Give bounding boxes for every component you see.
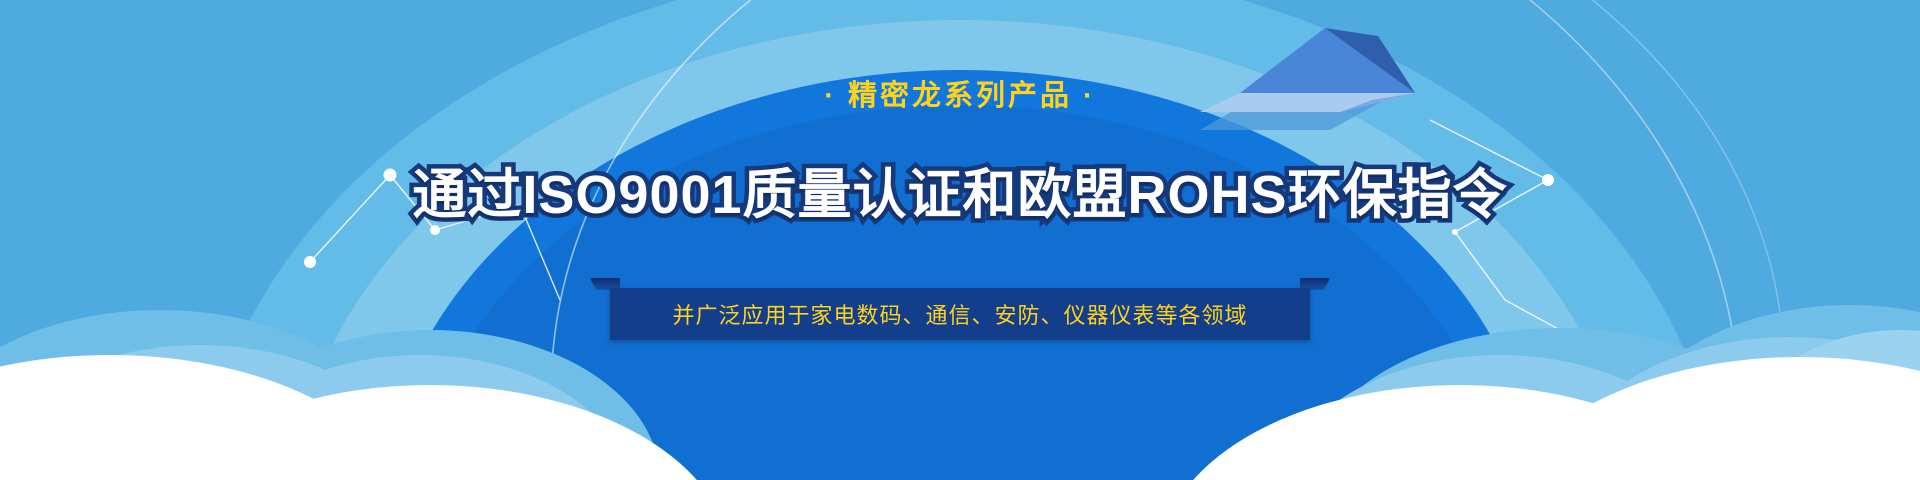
ribbon-text: 并广泛应用于家电数码、通信、安防、仪器仪表等各领域	[672, 298, 1247, 330]
banner-content: · 精密龙系列产品 · 通过ISO9001质量认证和欧盟ROHS环保指令 并广泛…	[0, 0, 1920, 480]
ribbon-body: 并广泛应用于家电数码、通信、安防、仪器仪表等各领域	[610, 288, 1310, 340]
hero-banner: · 精密龙系列产品 · 通过ISO9001质量认证和欧盟ROHS环保指令 并广泛…	[0, 0, 1920, 480]
banner-eyebrow: · 精密龙系列产品 ·	[0, 72, 1920, 114]
banner-headline: 通过ISO9001质量认证和欧盟ROHS环保指令	[0, 150, 1920, 229]
ribbon-banner: 并广泛应用于家电数码、通信、安防、仪器仪表等各领域	[610, 288, 1310, 340]
